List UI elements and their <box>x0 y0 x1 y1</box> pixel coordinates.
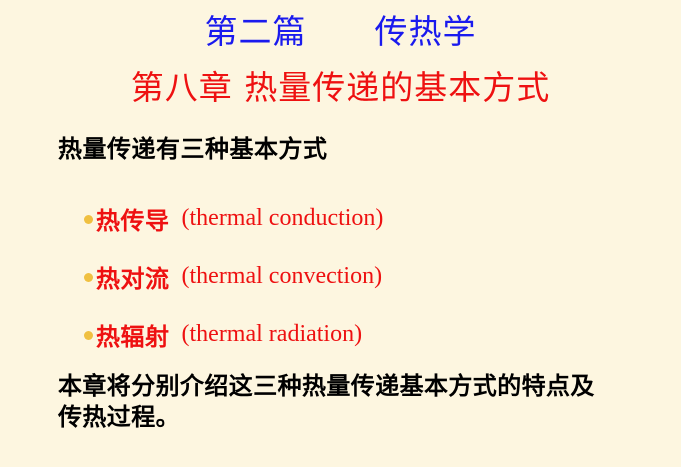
list-item-label-en: (thermal radiation) <box>182 321 363 348</box>
heat-transfer-modes-list: 热传导 (thermal conduction) 热对流 (thermal co… <box>84 189 644 363</box>
page-title-main: 第二篇 传热学 <box>0 12 681 52</box>
page-title-chapter: 第八章 热量传递的基本方式 <box>0 68 681 108</box>
filled-circle-bullet-icon <box>84 215 93 224</box>
list-item-label-en: (thermal conduction) <box>182 205 384 232</box>
list-item-label-cn: 热辐射 <box>96 317 170 352</box>
filled-circle-bullet-icon <box>84 331 93 340</box>
list-item-label-cn: 热对流 <box>96 259 170 294</box>
slide-canvas: 第二篇 传热学 第八章 热量传递的基本方式 热量传递有三种基本方式 热传导 (t… <box>0 0 681 467</box>
lead-statement: 热量传递有三种基本方式 <box>58 133 328 165</box>
list-item-label-cn: 热传导 <box>96 201 170 236</box>
list-item: 热辐射 (thermal radiation) <box>84 305 644 363</box>
list-item: 热对流 (thermal convection) <box>84 247 644 305</box>
closing-paragraph: 本章将分别介绍这三种热量传递基本方式的特点及传热过程。 <box>58 370 608 432</box>
filled-circle-bullet-icon <box>84 273 93 282</box>
list-item-label-en: (thermal convection) <box>182 263 383 290</box>
list-item: 热传导 (thermal conduction) <box>84 189 644 247</box>
